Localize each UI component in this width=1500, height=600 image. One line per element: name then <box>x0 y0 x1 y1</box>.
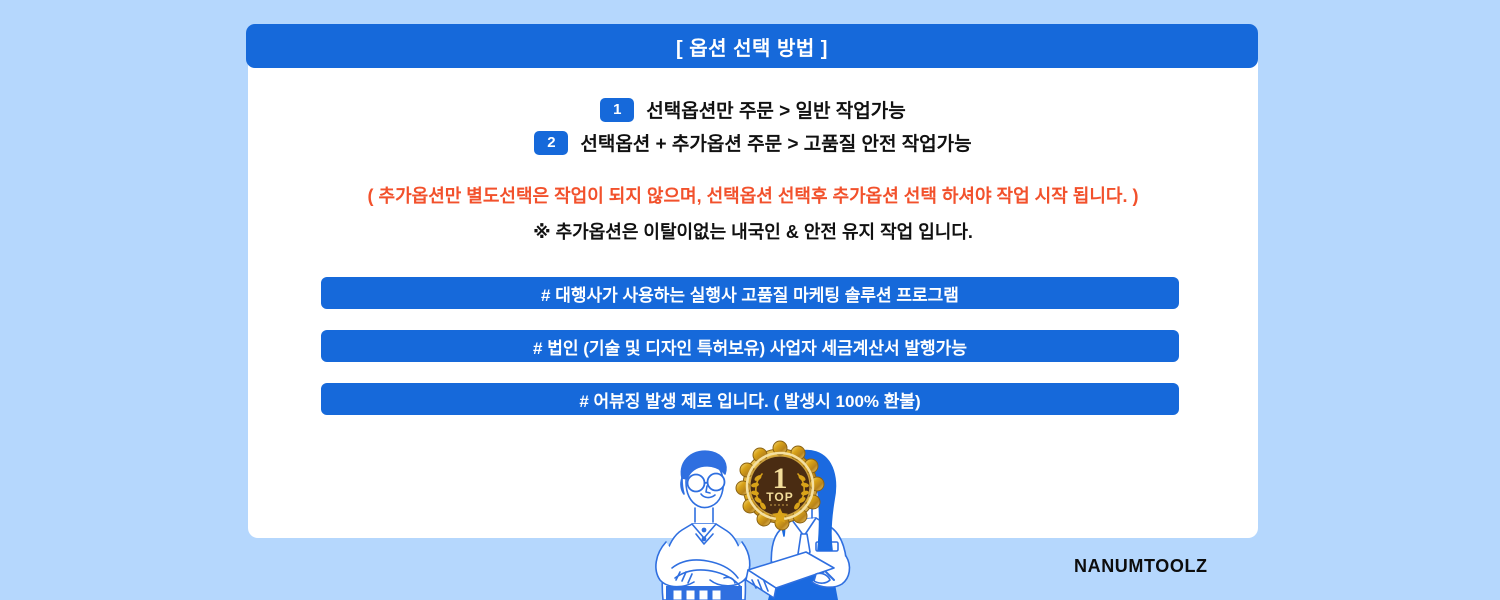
feature-bar-label: # 법인 (기술 및 디자인 특허보유) 사업자 세금계산서 발행가능 <box>533 334 967 359</box>
step-list: 1 선택옵션만 주문 > 일반 작업가능 2 선택옵션 + 추가옵션 주문 > … <box>248 96 1258 156</box>
header-bar: [ 옵션 선택 방법 ] <box>246 24 1258 68</box>
step-number-badge: 1 <box>600 98 634 122</box>
feature-bar: # 어뷰징 발생 제로 입니다. ( 발생시 100% 환불) <box>321 383 1179 415</box>
warning-notice: ( 추가옵션만 별도선택은 작업이 되지 않으며, 선택옵션 선택후 추가옵션 … <box>248 182 1258 208</box>
step-label: 선택옵션 + 추가옵션 주문 > 고품질 안전 작업가능 <box>580 129 971 156</box>
promo-banner: [ 옵션 선택 방법 ] 1 선택옵션만 주문 > 일반 작업가능 2 선택옵션… <box>0 0 1500 600</box>
list-item: 1 선택옵션만 주문 > 일반 작업가능 <box>600 96 905 123</box>
feature-bar-label: # 어뷰징 발생 제로 입니다. ( 발생시 100% 환불) <box>579 387 920 412</box>
page-title: [ 옵션 선택 방법 ] <box>676 32 828 61</box>
step-label: 선택옵션만 주문 > 일반 작업가능 <box>646 96 905 123</box>
brand-logo: NANUMTOOLZ <box>1074 556 1208 577</box>
feature-bar-label: # 대행사가 사용하는 실행사 고품질 마케팅 솔루션 프로그램 <box>541 281 959 306</box>
feature-bar: # 법인 (기술 및 디자인 특허보유) 사업자 세금계산서 발행가능 <box>321 330 1179 362</box>
feature-bar: # 대행사가 사용하는 실행사 고품질 마케팅 솔루션 프로그램 <box>321 277 1179 309</box>
info-notice: ※ 추가옵션은 이탈이없는 내국인 & 안전 유지 작업 입니다. <box>248 218 1258 244</box>
medal-top-label: TOP <box>766 490 793 504</box>
illustration-group: 1 TOP <box>620 438 892 600</box>
list-item: 2 선택옵션 + 추가옵션 주문 > 고품질 안전 작업가능 <box>534 129 971 156</box>
man-arms-crossed-illustration <box>656 451 750 600</box>
step-number-badge: 2 <box>534 131 568 155</box>
